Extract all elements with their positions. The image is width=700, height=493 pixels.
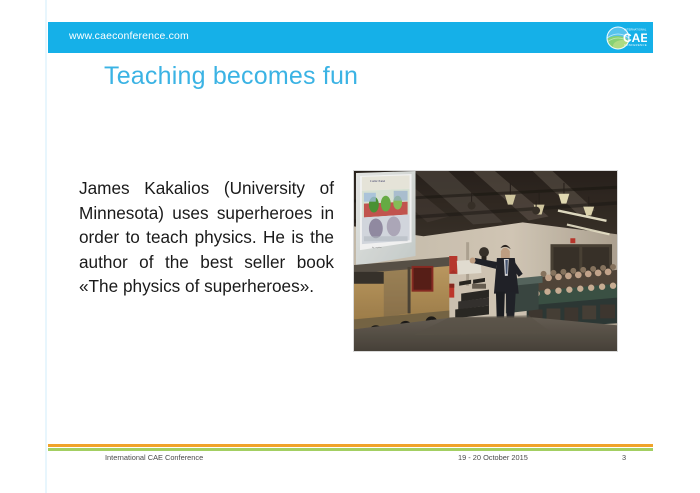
svg-text:CONFERENCE: CONFERENCE — [624, 43, 647, 47]
lecture-hall-photo: Comic Panel fig. caption — [353, 170, 618, 352]
body-paragraph: James Kakalios (University of Minnesota)… — [79, 176, 334, 299]
footer-page-number: 3 — [622, 453, 626, 462]
header-website-url: www.caeconference.com — [69, 30, 189, 42]
footer-rule-orange — [48, 444, 653, 447]
presentation-slide: www.caeconference.com INTERNATIONAL CAE … — [0, 0, 700, 493]
slide-title: Teaching becomes fun — [104, 62, 358, 91]
slide-frame-border — [45, 0, 47, 493]
footer-dates: 19 - 20 October 2015 — [458, 453, 528, 462]
header-bar: www.caeconference.com INTERNATIONAL CAE … — [48, 22, 653, 53]
cae-logo: INTERNATIONAL CAE CONFERENCE — [601, 24, 647, 51]
footer-rule-green — [48, 448, 653, 451]
svg-text:CAE: CAE — [623, 31, 647, 45]
footer-conference-name: International CAE Conference — [105, 453, 203, 462]
